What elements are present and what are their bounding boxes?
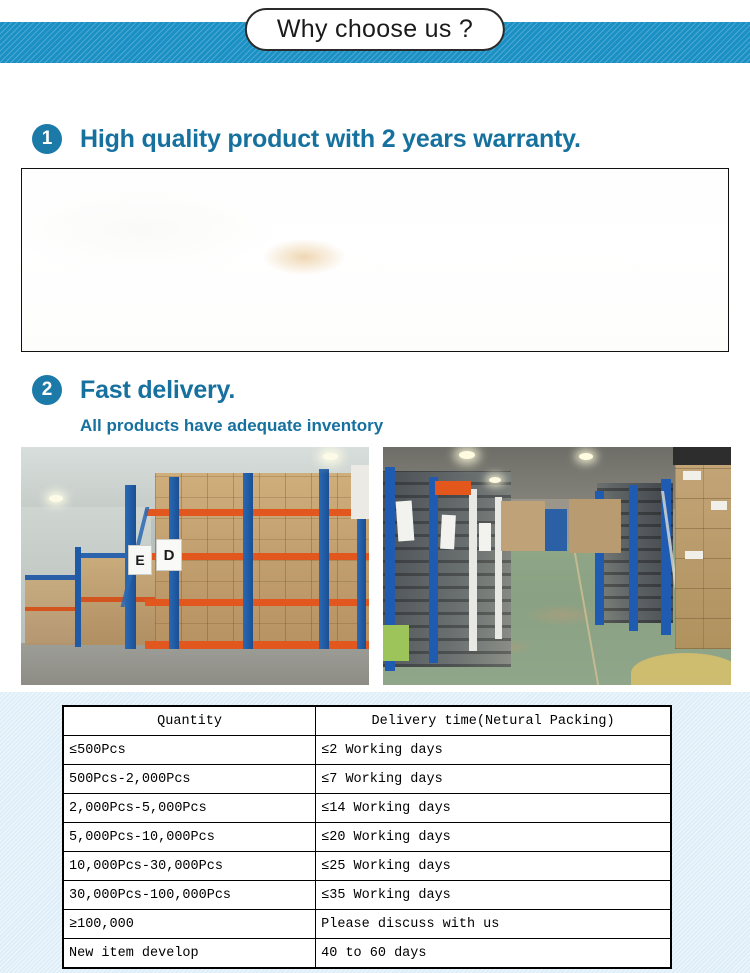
carton-label-3 [685, 551, 703, 559]
right-panel [351, 465, 369, 519]
feature-2-number-badge: 2 [32, 375, 62, 405]
feature-1-product-photo [21, 168, 729, 352]
ceiling-light-2 [323, 453, 338, 460]
feature-2-subtitle: All products have adequate inventory [80, 416, 383, 436]
aisle-sign-d: D [156, 539, 182, 571]
feature-2-title: Fast delivery. [80, 376, 235, 405]
page-title: Why choose us ? [277, 15, 473, 44]
cell-delivery-time: ≤7 Working days [316, 765, 671, 794]
rack-upright-3 [243, 473, 253, 649]
table-row: 500Pcs-2,000Pcs ≤7 Working days [63, 765, 671, 794]
table-row: 30,000Pcs-100,000Pcs ≤35 Working days [63, 881, 671, 910]
table-row: 2,000Pcs-5,000Pcs ≤14 Working days [63, 794, 671, 823]
feature-2-heading: 2 Fast delivery. [32, 375, 235, 405]
banner-title-pill: Why choose us ? [245, 8, 505, 51]
table-row: ≤500Pcs ≤2 Working days [63, 736, 671, 765]
cell-quantity: 10,000Pcs-30,000Pcs [63, 852, 316, 881]
cell-delivery-time: ≤14 Working days [316, 794, 671, 823]
table-row: ≥100,000 Please discuss with us [63, 910, 671, 939]
table-header-quantity: Quantity [63, 706, 316, 736]
feature-1-number-badge: 1 [32, 124, 62, 154]
delivery-time-table: Quantity Delivery time(Netural Packing) … [62, 705, 672, 969]
floor-layer [21, 643, 369, 685]
aisle-sign-e: E [128, 545, 152, 575]
carton-label-2 [711, 501, 727, 510]
left-rack-upright-2 [429, 477, 438, 663]
paper-tag-3 [479, 523, 491, 551]
cell-quantity: 2,000Pcs-5,000Pcs [63, 794, 316, 823]
table-row: New item develop 40 to 60 days [63, 939, 671, 969]
cell-quantity: ≥100,000 [63, 910, 316, 939]
table-row: 10,000Pcs-30,000Pcs ≤25 Working days [63, 852, 671, 881]
mid-rack-upright [75, 547, 81, 647]
far-blue-door [545, 509, 567, 551]
table-body: ≤500Pcs ≤2 Working days 500Pcs-2,000Pcs … [63, 736, 671, 969]
ceiling-light-right-1 [459, 451, 475, 459]
cell-delivery-time: ≤20 Working days [316, 823, 671, 852]
feature-1-title: High quality product with 2 years warran… [80, 125, 581, 154]
carton-stack-seams [675, 463, 731, 649]
warehouse-photo-right [383, 447, 731, 685]
right-rack-upright-2 [629, 485, 638, 631]
cell-delivery-time: 40 to 60 days [316, 939, 671, 969]
paper-tag-2 [440, 515, 456, 550]
ceiling-light-1 [49, 495, 63, 502]
green-crate [383, 625, 409, 661]
orange-items [435, 481, 471, 495]
top-right-dark-items [673, 447, 731, 465]
cell-delivery-time: ≤35 Working days [316, 881, 671, 910]
rack-upright-4 [319, 469, 329, 649]
cell-quantity: 5,000Pcs-10,000Pcs [63, 823, 316, 852]
table-row: 5,000Pcs-10,000Pcs ≤20 Working days [63, 823, 671, 852]
table-header-delivery-time: Delivery time(Netural Packing) [316, 706, 671, 736]
page-header-banner: Why choose us ? [0, 0, 750, 67]
ceiling-light-right-3 [489, 477, 501, 483]
cell-quantity: ≤500Pcs [63, 736, 316, 765]
far-cartons-right [569, 499, 621, 553]
table-header-row: Quantity Delivery time(Netural Packing) [63, 706, 671, 736]
feature-1-heading: 1 High quality product with 2 years warr… [32, 124, 581, 154]
cell-quantity: New item develop [63, 939, 316, 969]
left-rack-upright-3 [469, 489, 477, 651]
cell-delivery-time: Please discuss with us [316, 910, 671, 939]
cell-delivery-time: ≤25 Working days [316, 852, 671, 881]
warehouse-photo-left: E D [21, 447, 369, 685]
carton-label-1 [683, 471, 701, 480]
cell-delivery-time: ≤2 Working days [316, 736, 671, 765]
ceiling-light-right-2 [579, 453, 593, 460]
paper-tag-1 [396, 500, 415, 541]
far-cartons-left [501, 501, 545, 551]
cell-quantity: 30,000Pcs-100,000Pcs [63, 881, 316, 910]
cell-quantity: 500Pcs-2,000Pcs [63, 765, 316, 794]
